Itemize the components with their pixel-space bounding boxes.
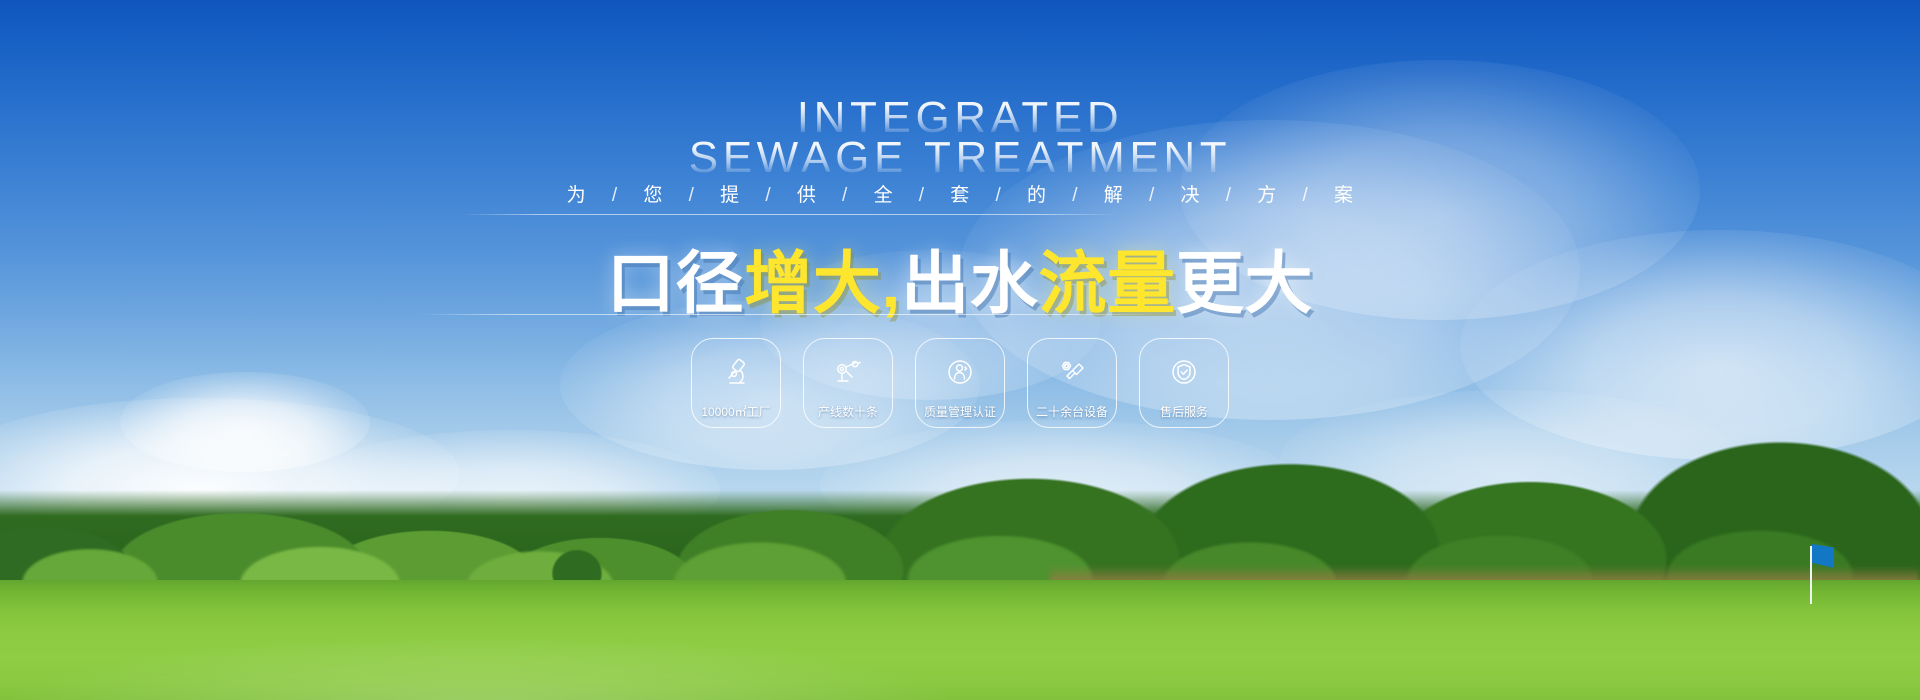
certified-person-icon — [943, 355, 977, 389]
tagline-separator: / — [668, 185, 714, 207]
feature-badge-after-sales[interactable]: 售后服务 — [1139, 338, 1229, 428]
tagline-char: 解 — [1104, 180, 1123, 207]
hero-banner: INTEGRATED SEWAGE TREATMENT 为 / 您 / 提 / … — [0, 0, 1920, 700]
feature-badge-quality-certification[interactable]: 质量管理认证 — [915, 338, 1005, 428]
headline-segment: 流量 — [1038, 246, 1175, 322]
tagline-char: 的 — [1027, 180, 1046, 207]
production-machine-icon — [831, 355, 865, 389]
feature-badge-label: 10000㎡工厂 — [701, 403, 770, 420]
tagline-char: 为 — [567, 180, 586, 207]
tagline-char: 案 — [1334, 180, 1353, 207]
feature-badge-label: 二十余台设备 — [1036, 403, 1108, 420]
english-title: INTEGRATED SEWAGE TREATMENT — [0, 96, 1920, 180]
tagline-char: 供 — [797, 180, 816, 207]
tagline-separator: / — [592, 185, 638, 207]
tagline: 为 / 您 / 提 / 供 / 全 / 套 / 的 / 解 / 决 / 方 / … — [0, 180, 1920, 207]
headline: 口径增大,出水流量更大 — [0, 228, 1920, 327]
feature-badge-label: 产线数十条 — [818, 403, 878, 420]
tagline-separator: / — [822, 185, 868, 207]
tagline-char: 方 — [1257, 180, 1276, 207]
bolt-wrench-icon — [1055, 355, 1089, 389]
tagline-char: 决 — [1181, 180, 1200, 207]
feature-badge-production-lines[interactable]: 产线数十条 — [803, 338, 893, 428]
tagline-char: 套 — [950, 180, 969, 207]
headline-segment: 更大 — [1176, 246, 1313, 322]
feature-badge-equipment[interactable]: 二十余台设备 — [1027, 338, 1117, 428]
headline-segment: 出水 — [901, 246, 1038, 322]
tagline-separator: / — [1129, 185, 1175, 207]
tagline-separator: / — [1052, 185, 1098, 207]
headline-comma: , — [882, 246, 902, 322]
shield-check-icon — [1167, 355, 1201, 389]
english-title-line2: SEWAGE TREATMENT — [0, 136, 1920, 180]
feature-badge-factory[interactable]: 10000㎡工厂 — [691, 338, 781, 428]
headline-segment: 增大 — [744, 246, 881, 322]
tagline-separator: / — [899, 185, 945, 207]
text-overlay: INTEGRATED SEWAGE TREATMENT 为 / 您 / 提 / … — [0, 0, 1920, 700]
microscope-icon — [719, 355, 753, 389]
divider-top — [460, 214, 1120, 215]
feature-badge-label: 售后服务 — [1160, 403, 1208, 420]
tagline-separator: / — [1282, 185, 1328, 207]
tagline-char: 全 — [874, 180, 893, 207]
divider-bottom — [420, 314, 1160, 315]
tagline-char: 您 — [643, 180, 662, 207]
tagline-char: 提 — [720, 180, 739, 207]
headline-segment: 口径 — [607, 246, 744, 322]
tagline-separator: / — [745, 185, 791, 207]
tagline-separator: / — [975, 185, 1021, 207]
feature-badge-label: 质量管理认证 — [924, 403, 996, 420]
tagline-separator: / — [1206, 185, 1252, 207]
feature-badge-list: 10000㎡工厂 产线数十条 — [0, 338, 1920, 428]
